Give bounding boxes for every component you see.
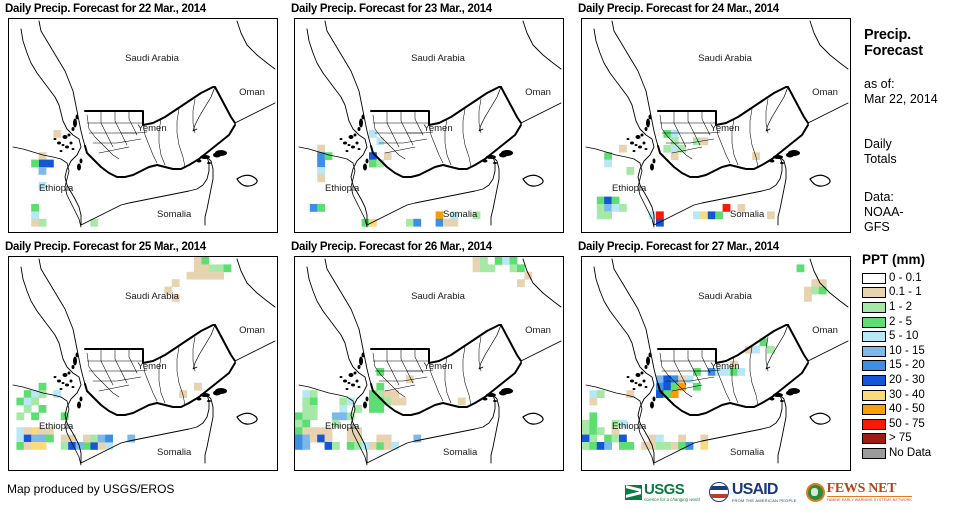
island-shape — [348, 144, 351, 146]
legend-swatch — [862, 302, 886, 313]
precip-cell — [310, 427, 318, 435]
precip-cell — [495, 257, 503, 265]
legend-swatch — [862, 360, 886, 371]
precip-cell — [399, 398, 407, 406]
legend-label: 2 - 5 — [889, 317, 912, 328]
island-shape — [770, 160, 775, 163]
label-saudi-arabia: Saudi Arabia — [411, 53, 466, 64]
legend-swatch — [862, 331, 886, 342]
precip-cell — [715, 211, 723, 219]
precip-cell — [517, 279, 525, 287]
precip-cell — [604, 204, 612, 212]
legend-swatch — [862, 419, 886, 430]
precip-cell — [612, 197, 620, 205]
precip-cell — [347, 435, 355, 443]
precip-cell — [83, 442, 91, 450]
precip-cell — [487, 264, 495, 272]
label-ethiopia: Ethiopia — [39, 421, 74, 432]
island-shape — [653, 159, 656, 164]
island-shape — [70, 380, 73, 383]
legend-row: 10 - 15 — [862, 344, 931, 359]
legend-row: 1 - 2 — [862, 300, 931, 315]
precip-cell — [24, 405, 32, 413]
label-oman: Oman — [525, 325, 551, 336]
island-shape — [363, 164, 367, 171]
island-shape — [62, 382, 65, 384]
precip-cell — [597, 427, 605, 435]
precip-cell — [209, 272, 217, 280]
precip-cell — [767, 211, 775, 219]
legend-row: 0 - 0.1 — [862, 271, 931, 286]
map-canvas: Saudi ArabiaOmanYemenEthiopiaSomalia — [295, 257, 563, 470]
legend-row: 2 - 5 — [862, 315, 931, 330]
precip-cell — [31, 427, 39, 435]
precip-cell — [302, 420, 310, 428]
island-shape — [773, 393, 783, 397]
island-shape — [60, 388, 63, 390]
precip-cell — [589, 442, 597, 450]
precip-cell — [90, 435, 98, 443]
island-shape — [630, 380, 634, 383]
precip-cell — [686, 442, 694, 450]
precip-cell — [384, 435, 392, 443]
precip-cell — [678, 435, 686, 443]
island-shape — [356, 380, 359, 383]
precip-cell — [16, 442, 24, 450]
precip-cell — [295, 412, 303, 420]
legend-row: 5 - 10 — [862, 329, 931, 344]
precip-cell — [201, 257, 209, 265]
precip-cell — [216, 272, 224, 280]
precip-cell — [201, 272, 209, 280]
precip-cell — [517, 264, 525, 272]
island-shape — [653, 397, 656, 402]
legend-row: 0.1 - 1 — [862, 286, 931, 301]
precip-cell — [194, 257, 202, 265]
island-shape — [72, 365, 75, 369]
precip-cell — [376, 368, 384, 376]
precip-cell — [24, 442, 32, 450]
precip-cell — [671, 145, 679, 153]
panel-5: Daily Precip. Forecast for 27 Mar., 2014… — [576, 240, 859, 478]
island-shape — [493, 162, 497, 164]
island-shape — [650, 164, 654, 171]
legend-label: 10 - 15 — [889, 346, 925, 357]
precip-cell — [656, 211, 664, 219]
island-shape — [63, 135, 68, 139]
island-shape — [645, 127, 648, 131]
precip-cell — [310, 204, 318, 212]
precip-cell — [295, 420, 303, 428]
label-yemen: Yemen — [710, 123, 739, 134]
island-shape — [349, 373, 354, 377]
legend-row: 15 - 20 — [862, 359, 931, 374]
island-shape — [636, 373, 641, 377]
label-yemen: Yemen — [137, 123, 166, 134]
precip-cell — [46, 435, 54, 443]
island-shape — [359, 357, 363, 366]
precip-cell — [678, 375, 686, 383]
precip-cell — [317, 435, 325, 443]
precip-cell — [39, 405, 47, 413]
precip-cell — [589, 427, 597, 435]
precip-cell — [671, 152, 679, 160]
precip-cell — [597, 390, 605, 398]
precip-cell — [804, 287, 812, 295]
precip-cell — [46, 160, 54, 168]
island-shape — [63, 373, 68, 377]
island-shape — [207, 162, 211, 164]
island-shape — [645, 365, 648, 369]
usaid-logo-name: USAID — [732, 482, 797, 498]
island-shape — [70, 142, 73, 145]
totals-line2: Totals — [864, 152, 897, 167]
label-oman: Oman — [812, 325, 838, 336]
label-yemen: Yemen — [137, 361, 166, 372]
precip-cell — [310, 390, 318, 398]
island-shape — [362, 115, 365, 120]
precip-cell — [369, 160, 377, 168]
precip-cell — [90, 442, 98, 450]
island-shape — [770, 398, 775, 401]
island-shape — [77, 164, 81, 171]
legend-label: 1 - 2 — [889, 302, 912, 313]
panel-title: Daily Precip. Forecast for 24 Mar., 2014 — [576, 2, 859, 17]
legend-label: > 75 — [889, 433, 912, 444]
usaid-logo[interactable]: USAID FROM THE AMERICAN PEOPLE — [709, 479, 797, 505]
island-shape — [366, 159, 369, 164]
island-shape — [340, 138, 343, 140]
label-yemen: Yemen — [710, 361, 739, 372]
precip-cell — [216, 264, 224, 272]
legend-swatch — [862, 317, 886, 328]
island-shape — [356, 142, 359, 145]
island-shape — [65, 146, 69, 149]
precip-cell — [317, 427, 325, 435]
precip-cell — [39, 390, 47, 398]
precip-cell — [369, 130, 377, 138]
legend-label: 30 - 40 — [889, 390, 925, 401]
island-shape — [54, 376, 57, 378]
sidebar-title-line2: Forecast — [864, 43, 923, 59]
legend-swatch — [862, 390, 886, 401]
precip-cell — [172, 279, 180, 287]
island-shape — [501, 388, 513, 394]
legend-swatch — [862, 404, 886, 415]
island-shape — [68, 372, 71, 375]
usaid-logo-tagline: FROM THE AMERICAN PEOPLE — [732, 498, 797, 503]
panel-2: Daily Precip. Forecast for 24 Mar., 2014… — [576, 2, 859, 240]
totals-line1: Daily — [864, 137, 897, 152]
precip-cell — [626, 167, 634, 175]
precip-cell — [811, 279, 819, 287]
island-shape — [358, 148, 361, 150]
island-shape — [641, 372, 644, 375]
label-yemen: Yemen — [423, 123, 452, 134]
precip-cell — [16, 398, 24, 406]
usgs-logo-name: USGS — [644, 482, 700, 497]
precip-cell — [31, 204, 39, 212]
legend-swatch — [862, 433, 886, 444]
island-shape — [650, 402, 654, 409]
island-shape — [207, 400, 211, 402]
precip-cell — [224, 264, 232, 272]
partner-logos: USGS science for a changing world USAID … — [625, 478, 912, 506]
precip-cell — [582, 435, 590, 443]
precip-cell — [39, 167, 47, 175]
precip-cell — [295, 442, 303, 450]
precip-cell — [700, 211, 708, 219]
map-frame[interactable]: Saudi ArabiaOmanYemenEthiopiaSomalia — [581, 256, 851, 471]
fewsnet-logo-name: FEWS NET — [827, 482, 912, 497]
map-frame[interactable]: Saudi ArabiaOmanYemenEthiopiaSomalia — [294, 18, 564, 233]
map-canvas: Saudi ArabiaOmanYemenEthiopiaSomalia — [295, 19, 563, 232]
island-shape — [641, 134, 644, 137]
legend-label: 50 - 75 — [889, 419, 925, 430]
panel-title: Daily Precip. Forecast for 25 Mar., 2014 — [3, 240, 286, 255]
precip-cell — [708, 211, 716, 219]
precip-cell — [369, 405, 377, 413]
precip-cell — [604, 197, 612, 205]
island-shape — [197, 398, 202, 401]
panel-3: Daily Precip. Forecast for 25 Mar., 2014… — [3, 240, 286, 478]
precip-cell — [369, 219, 377, 227]
island-shape — [646, 357, 650, 366]
precip-cell — [302, 405, 310, 413]
usaid-seal-icon — [709, 482, 729, 502]
legend-row: > 75 — [862, 432, 931, 447]
as-of-value: Mar 22, 2014 — [864, 92, 938, 107]
precip-cell — [295, 427, 303, 435]
panel-title: Daily Precip. Forecast for 22 Mar., 2014 — [3, 2, 286, 17]
island-shape — [636, 135, 641, 139]
precip-cell — [302, 427, 310, 435]
precip-cell — [604, 442, 612, 450]
precip-cell — [582, 427, 590, 435]
precip-cell — [302, 412, 310, 420]
legend-label: 40 - 50 — [889, 404, 925, 415]
legend-label: 5 - 10 — [889, 331, 918, 342]
island-shape — [645, 386, 648, 388]
label-ethiopia: Ethiopia — [612, 183, 647, 194]
precip-cell — [502, 257, 510, 265]
island-shape — [73, 119, 77, 128]
island-shape — [76, 353, 79, 358]
island-shape — [788, 150, 800, 156]
map-frame[interactable]: Saudi ArabiaOmanYemenEthiopiaSomalia — [581, 18, 851, 233]
island-shape — [501, 150, 513, 156]
precip-cell — [369, 442, 377, 450]
label-oman: Oman — [812, 87, 838, 98]
legend-label: 0 - 0.1 — [889, 273, 922, 284]
island-shape — [354, 372, 357, 375]
island-shape — [77, 402, 81, 409]
precip-cell — [811, 287, 819, 295]
label-somalia: Somalia — [157, 209, 192, 220]
legend-swatch — [862, 448, 886, 459]
precip-cell — [317, 160, 325, 168]
panel-4: Daily Precip. Forecast for 26 Mar., 2014… — [289, 240, 572, 478]
precip-cell — [24, 427, 32, 435]
precip-cell — [98, 442, 106, 450]
precip-cell — [39, 160, 47, 168]
precip-cell — [24, 435, 32, 443]
island-shape — [340, 376, 343, 378]
island-shape — [649, 353, 652, 358]
island-shape — [635, 382, 638, 384]
precip-cell — [61, 435, 69, 443]
precip-cell — [31, 412, 39, 420]
label-saudi-arabia: Saudi Arabia — [411, 291, 466, 302]
legend-row: No Data — [862, 446, 931, 461]
map-frame[interactable]: Saudi ArabiaOmanYemenEthiopiaSomalia — [8, 18, 278, 233]
precip-cell — [98, 435, 106, 443]
legend-swatch — [862, 375, 886, 386]
precip-cell — [16, 412, 24, 420]
precip-cell — [597, 442, 605, 450]
island-shape — [483, 160, 488, 163]
island-shape — [627, 376, 630, 378]
label-saudi-arabia: Saudi Arabia — [125, 291, 180, 302]
legend-swatch — [862, 346, 886, 357]
island-shape — [483, 398, 488, 401]
precip-cell — [686, 375, 694, 383]
precip-cell — [473, 257, 481, 265]
island-shape — [72, 127, 75, 131]
island-shape — [630, 142, 634, 145]
precip-cell — [39, 152, 47, 160]
precip-cell — [31, 442, 39, 450]
island-shape — [638, 146, 642, 149]
precip-cell — [604, 211, 612, 219]
precip-cell — [589, 398, 597, 406]
precip-cell — [376, 442, 384, 450]
legend-rows: 0 - 0.10.1 - 11 - 22 - 55 - 1010 - 1515 … — [862, 271, 931, 461]
island-shape — [215, 388, 227, 394]
totals-block: Daily Totals — [864, 137, 897, 167]
precip-cell — [797, 264, 805, 272]
precip-cell — [656, 435, 664, 443]
label-somalia: Somalia — [730, 209, 765, 220]
map-canvas: Saudi ArabiaOmanYemenEthiopiaSomalia — [9, 257, 277, 470]
island-shape — [362, 353, 365, 358]
precip-cell — [105, 435, 113, 443]
precip-cell — [663, 130, 671, 138]
precip-cell — [384, 390, 392, 398]
precip-cell — [332, 412, 340, 420]
label-saudi-arabia: Saudi Arabia — [698, 291, 753, 302]
precip-cell — [302, 390, 310, 398]
precip-cell — [819, 287, 827, 295]
precip-cell — [295, 435, 303, 443]
precip-cell — [693, 211, 701, 219]
map-frame[interactable]: Saudi ArabiaOmanYemenEthiopiaSomalia — [8, 256, 278, 471]
precip-cell — [39, 442, 47, 450]
legend-label: 0.1 - 1 — [889, 287, 922, 298]
island-shape — [62, 144, 65, 146]
precip-cell — [187, 272, 195, 280]
precip-cell — [376, 137, 384, 145]
precip-cell — [619, 145, 627, 153]
precip-cell — [194, 264, 202, 272]
island-shape — [643, 380, 646, 383]
precip-cell — [83, 435, 91, 443]
island-shape — [351, 146, 355, 149]
panel-1: Daily Precip. Forecast for 23 Mar., 2014… — [289, 2, 572, 240]
precip-cell — [752, 346, 760, 354]
precip-cell — [384, 442, 392, 450]
legend-title: PPT (mm) — [862, 252, 931, 267]
island-shape — [638, 384, 642, 387]
precip-cell — [597, 211, 605, 219]
precip-cell — [347, 442, 355, 450]
island-shape — [788, 388, 800, 394]
island-shape — [348, 382, 351, 384]
island-shape — [346, 388, 349, 390]
precip-cell — [310, 412, 318, 420]
island-shape — [57, 142, 61, 145]
island-shape — [76, 115, 79, 120]
island-shape — [349, 135, 354, 139]
precip-cell — [302, 435, 310, 443]
legend-label: 15 - 20 — [889, 360, 925, 371]
precip-cell — [310, 435, 318, 443]
precip-cell — [31, 435, 39, 443]
island-shape — [73, 357, 77, 366]
precip-cell — [663, 375, 671, 383]
label-oman: Oman — [525, 87, 551, 98]
precip-cell — [317, 167, 325, 175]
panel-title: Daily Precip. Forecast for 26 Mar., 2014 — [289, 240, 572, 255]
island-shape — [200, 155, 210, 159]
map-frame[interactable]: Saudi ArabiaOmanYemenEthiopiaSomalia — [294, 256, 564, 471]
precip-cell — [391, 390, 399, 398]
precip-cell — [31, 398, 39, 406]
island-shape — [200, 393, 210, 397]
precip-cell — [406, 219, 414, 227]
precip-cell — [671, 383, 679, 391]
legend-row: 30 - 40 — [862, 388, 931, 403]
usgs-logo[interactable]: USGS science for a changing world — [625, 479, 700, 505]
island-shape — [54, 138, 57, 140]
precip-cell — [413, 219, 421, 227]
precip-cell — [626, 442, 634, 450]
precip-cell — [317, 204, 325, 212]
precip-forecast-map-page: Daily Precip. Forecast for 22 Mar., 2014… — [0, 0, 967, 511]
precip-cell — [39, 435, 47, 443]
island-shape — [68, 134, 71, 137]
island-shape — [635, 144, 638, 146]
precip-cell — [24, 398, 32, 406]
island-shape — [343, 380, 347, 383]
precip-cell — [480, 264, 488, 272]
usgs-wave-icon — [625, 485, 642, 500]
precip-cell — [804, 294, 812, 302]
panel-0: Daily Precip. Forecast for 22 Mar., 2014… — [3, 2, 286, 240]
as-of-block: as of: Mar 22, 2014 — [864, 77, 938, 107]
precip-cell — [589, 412, 597, 420]
island-shape — [346, 150, 349, 152]
precip-cell — [589, 435, 597, 443]
precip-cell — [582, 420, 590, 428]
precip-cell — [325, 442, 333, 450]
fewsnet-logo[interactable]: FEWS NET FAMINE EARLY WARNING SYSTEMS NE… — [806, 479, 912, 505]
sidebar-title: Precip. Forecast — [864, 27, 923, 59]
precip-cell — [31, 219, 39, 227]
precip-cell — [663, 442, 671, 450]
data-source-value-line1: NOAA- — [864, 205, 904, 220]
label-somalia: Somalia — [443, 447, 478, 458]
